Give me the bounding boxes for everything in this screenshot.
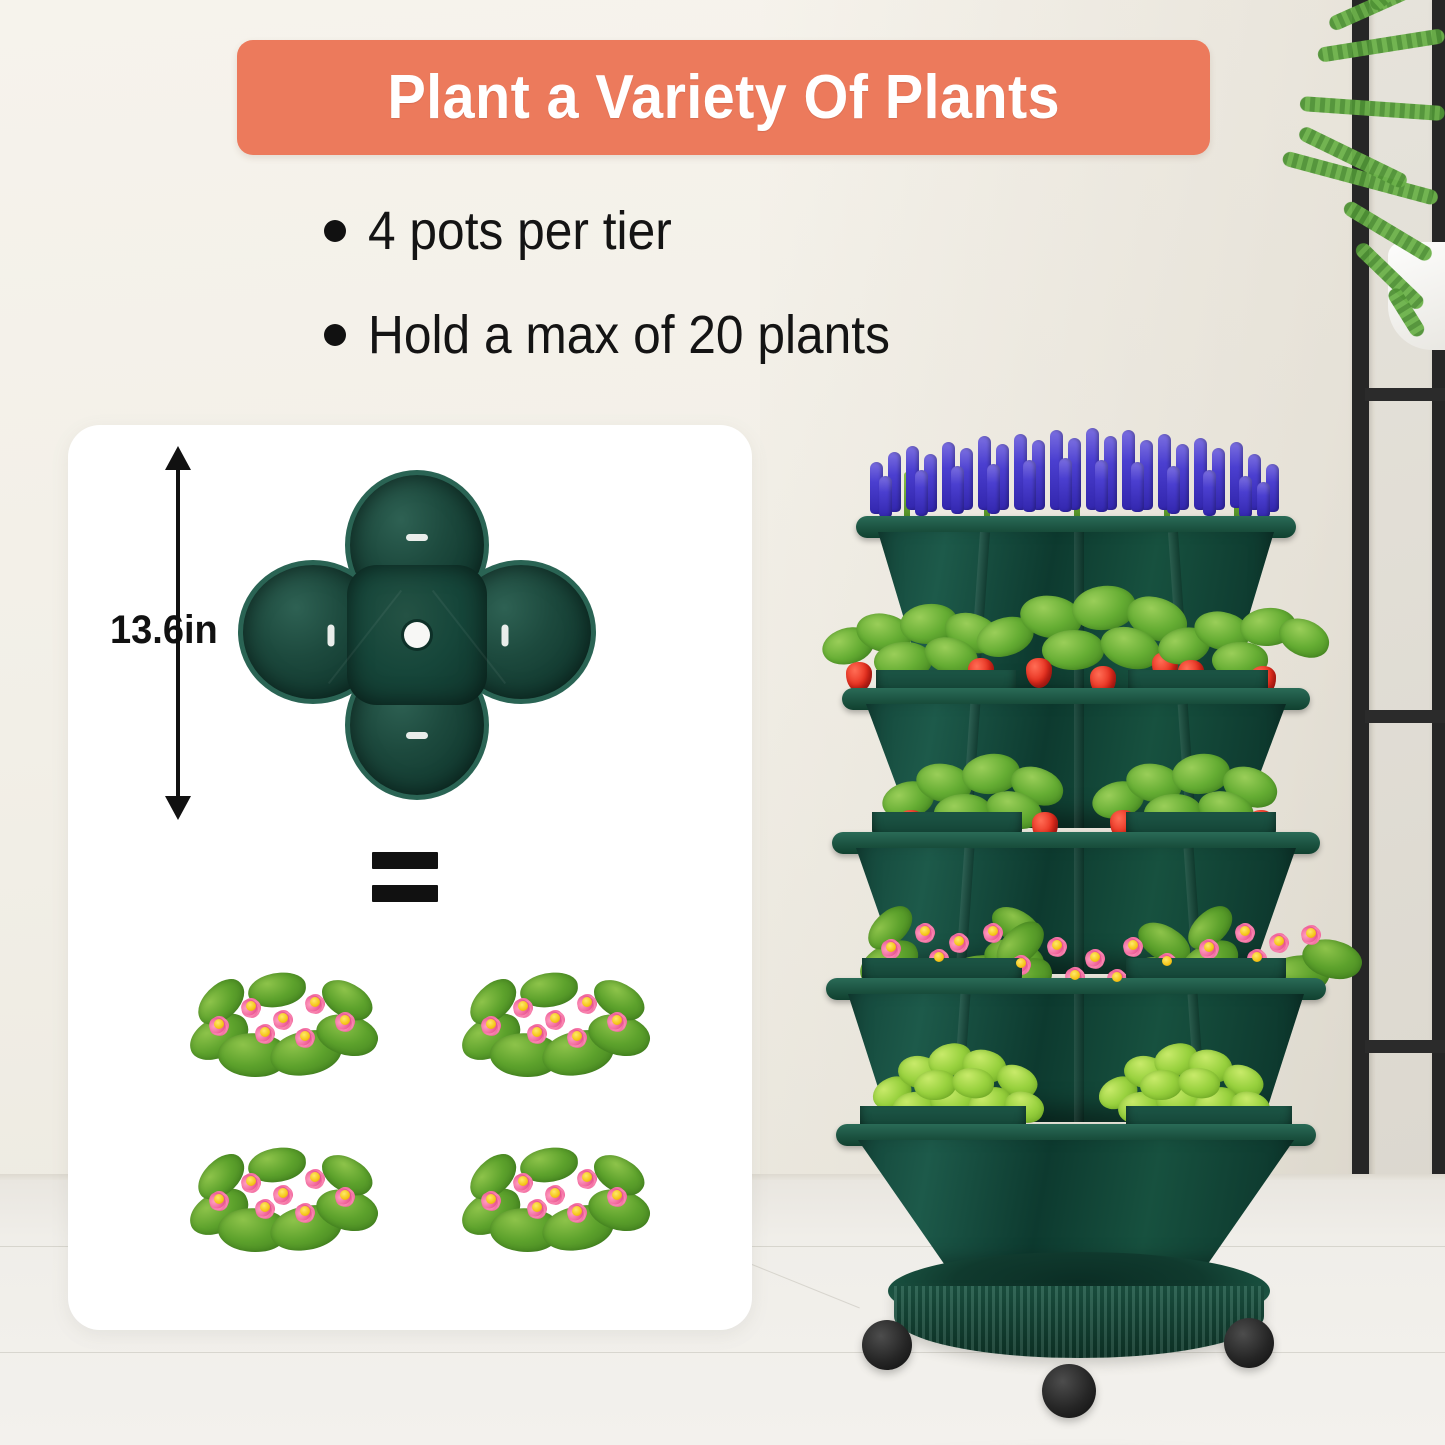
drainage-slot [406,732,428,739]
drainage-slot [406,534,428,541]
equals-bar-top [372,852,438,869]
flower-bloom [204,1184,234,1214]
flower-bloom [290,1021,320,1051]
center-drainage-hole [404,622,430,648]
drainage-slot [502,625,509,647]
flower-bloom [330,1005,360,1035]
caster-wheel-right [1224,1318,1274,1368]
equals-bar-bottom [372,885,438,902]
flower-bloom [204,1009,234,1039]
arrow-head-up-icon [165,446,191,470]
shelf-post-right [1432,0,1445,1195]
flower-bloom [300,987,330,1017]
flower-bloom [562,1196,592,1226]
caddy-ribbed-band [894,1286,1264,1358]
bullet-text: 4 pots per tier [368,200,672,262]
primrose-plant-4 [456,1130,652,1254]
drainage-slot [328,625,335,647]
primrose-plant-1 [184,955,380,1079]
flower-bloom [602,1005,632,1035]
flower-bloom [522,1017,552,1047]
primrose-plant-2 [456,955,652,1079]
stacking-planter-tower [826,420,1326,1430]
tier-groove [1074,704,1084,828]
flower-bloom [250,1017,280,1047]
list-item: 4 pots per tier [324,200,1144,262]
strawberry-fruit [1026,658,1052,688]
flower-bloom [1042,930,1072,960]
flower-bloom [250,1192,280,1222]
flower-bloom [330,1180,360,1210]
arrow-head-down-icon [165,796,191,820]
planter-tray-top-view [238,470,596,800]
equals-sign-icon [372,852,438,902]
headline-banner: Plant a Variety Of Plants [237,40,1210,155]
shelf-crossbar-1 [1365,388,1445,401]
flower-bloom [300,1162,330,1192]
primrose-plant-3 [184,1130,380,1254]
flower-bloom [476,1009,506,1039]
bullet-dot-icon [324,324,346,346]
list-item: Hold a max of 20 plants [324,304,1144,366]
flower-bloom [1118,930,1148,960]
flower-bloom [476,1184,506,1214]
flower-bloom [562,1021,592,1051]
page-title: Plant a Variety Of Plants [387,62,1060,133]
flower-bloom [1296,918,1326,948]
bullet-dot-icon [324,220,346,242]
tier-groove [1074,994,1084,1122]
rolling-caddy-base [888,1252,1270,1372]
caster-wheel-front [1042,1364,1096,1418]
flower-bloom [572,1162,602,1192]
flower-bloom [572,987,602,1017]
dimension-label: 13.6in [110,608,218,653]
flower-bloom [602,1180,632,1210]
flower-bloom [290,1196,320,1226]
tier-1-plant-grape-hyacinth [864,420,1288,528]
caster-wheel-left [862,1320,912,1370]
shelf-crossbar-3 [1365,1040,1445,1053]
feature-bullet-list: 4 pots per tier Hold a max of 20 plants [324,200,1144,408]
bullet-text: Hold a max of 20 plants [368,304,890,366]
flower-bloom [522,1192,552,1222]
shelf-crossbar-2 [1365,710,1445,723]
